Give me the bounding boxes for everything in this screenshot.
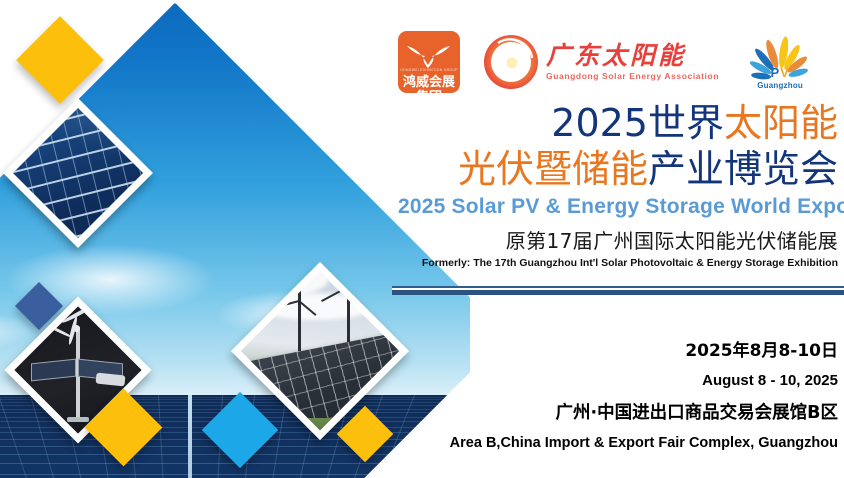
event-date-chinese: 2025年8月8-10日 (398, 340, 838, 362)
hongwei-english-label: HONGWEI EXHIBITION GROUP (398, 68, 460, 72)
title-block: 2025世界太阳能 光伏暨储能产业博览会 2025 Solar PV & Ene… (398, 100, 838, 270)
gdsea-english-label: Guangdong Solar Energy Association (546, 71, 719, 81)
event-venue-english: Area B,China Import & Export Fair Comple… (398, 433, 838, 453)
pv-letter-p: P (770, 65, 780, 80)
former-name-chinese: 原第17届广州国际太阳能光伏储能展 (398, 229, 838, 253)
gdsea-chinese-label: 广东太阳能 (546, 43, 719, 70)
title-line1-navy: 2025世界 (551, 101, 724, 145)
expo-poster: HONGWEI EXHIBITION GROUP 鸿威会展集团 广东太 (0, 0, 844, 478)
pv-city-label: Guangzhou (741, 81, 819, 90)
title-line2-navy: 产业博览会 (648, 147, 838, 191)
title-line-1: 2025世界太阳能 (398, 100, 838, 146)
logo-row: HONGWEI EXHIBITION GROUP 鸿威会展集团 广东太 (398, 26, 838, 98)
hongwei-chinese-label: 鸿威会展集团 (398, 74, 460, 93)
sun-swirl-icon (482, 33, 540, 91)
pv-letters: PV (741, 65, 819, 80)
event-venue-chinese: 广州·中国进出口商品交易会展馆B区 (398, 402, 838, 424)
title-line2-orange: 光伏暨储能 (458, 147, 648, 191)
pv-letter-v: V (780, 65, 790, 80)
title-line1-orange: 太阳能 (724, 101, 838, 145)
pv-guangzhou-logo: PV Guangzhou (741, 32, 819, 92)
hongwei-exhibition-group-logo: HONGWEI EXHIBITION GROUP 鸿威会展集团 (398, 31, 460, 93)
title-line-2: 光伏暨储能产业博览会 (398, 146, 838, 192)
former-name-english: Formerly: The 17th Guangzhou Int'l Solar… (398, 256, 838, 270)
event-info-block: 2025年8月8-10日 August 8 - 10, 2025 广州·中国进出… (398, 340, 838, 453)
guangdong-solar-energy-association-logo: 广东太阳能 Guangdong Solar Energy Association (482, 33, 719, 91)
divider-rule (392, 286, 844, 295)
eagle-wings-icon (406, 43, 452, 69)
event-date-english: August 8 - 10, 2025 (398, 370, 838, 392)
title-english: 2025 Solar PV & Energy Storage World Exp… (398, 194, 838, 219)
